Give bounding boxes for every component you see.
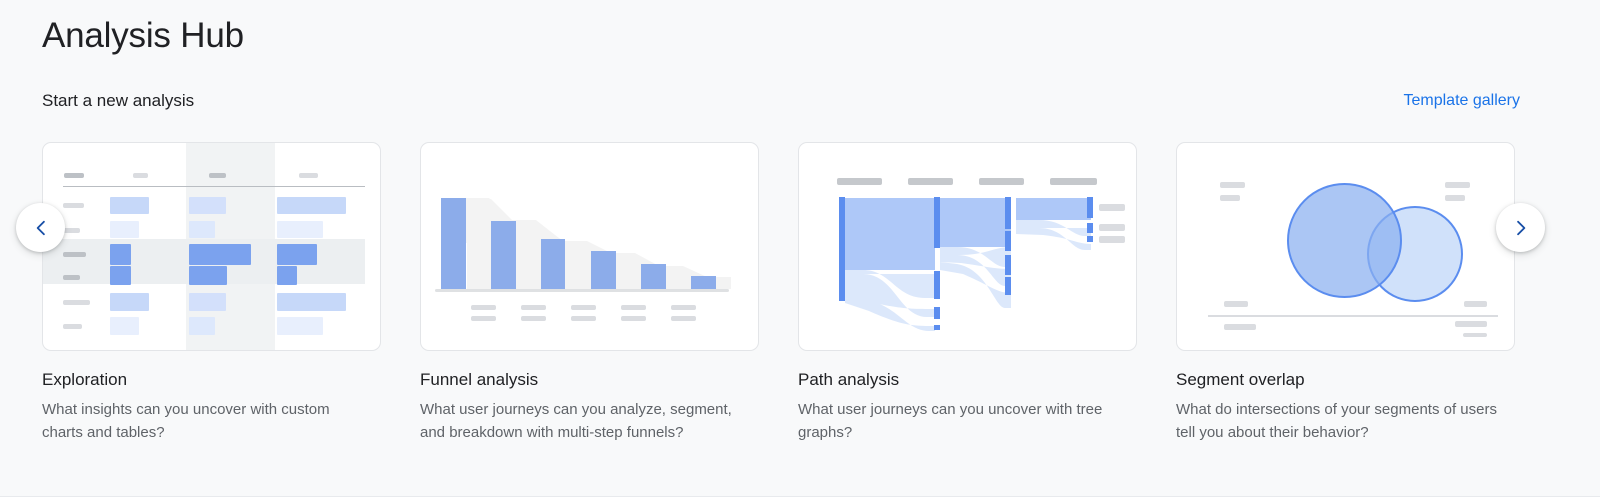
funnel-bar (491, 221, 516, 289)
sankey-node (934, 271, 940, 299)
sankey-node-label (1099, 224, 1125, 231)
table-row-label (63, 324, 82, 329)
venn-bottom-label (1464, 301, 1487, 307)
funnel-bar (641, 264, 666, 289)
table-row-label (63, 228, 80, 233)
table-header-label (209, 173, 226, 178)
table-cell-bar (189, 197, 226, 214)
sankey-node (1087, 236, 1093, 242)
table-header-label (133, 173, 148, 178)
table-cell-bar (277, 197, 346, 214)
table-cell-bar (277, 244, 317, 265)
venn-legend-label (1220, 182, 1245, 188)
venn-bottom-label (1455, 321, 1487, 327)
table-cell-bar (110, 293, 149, 311)
section-header-row: Start a new analysis Template gallery (42, 88, 1520, 114)
funnel-axis-label (671, 316, 696, 321)
exploration-table-thumbnail (42, 142, 381, 351)
analysis-card-exploration[interactable]: Exploration What insights can you uncove… (42, 142, 381, 444)
analysis-card-funnel[interactable]: Funnel analysis What user journeys can y… (420, 142, 759, 444)
funnel-axis-label (621, 305, 646, 310)
analysis-card-path[interactable]: Path analysis What user journeys can you… (798, 142, 1137, 444)
funnel-axis-label (571, 316, 596, 321)
sankey-node (1005, 255, 1011, 275)
venn-legend-label (1220, 195, 1240, 201)
venn-bottom-label (1224, 301, 1248, 307)
sankey-node (1087, 197, 1093, 218)
venn-bottom-label (1463, 333, 1487, 337)
card-title: Exploration (42, 368, 381, 392)
venn-legend-label (1445, 182, 1470, 188)
table-cell-bar (189, 293, 226, 311)
table-header-label (299, 173, 318, 178)
table-row-label (63, 300, 90, 305)
table-cell-bar (110, 197, 149, 214)
sankey-node (934, 325, 940, 330)
carousel-next-button[interactable] (1496, 203, 1545, 252)
card-title: Funnel analysis (420, 368, 759, 392)
chevron-right-icon (1511, 218, 1531, 238)
table-cell-bar (277, 293, 346, 311)
table-row-label (63, 203, 84, 208)
funnel-axis-label (521, 305, 546, 310)
card-description: What do intersections of your segments o… (1176, 398, 1506, 444)
table-cell-bar (110, 221, 139, 238)
sankey-node-label (1099, 236, 1125, 243)
card-description: What insights can you uncover with custo… (42, 398, 372, 444)
table-cell-bar (189, 244, 251, 265)
funnel-bar (441, 198, 466, 289)
table-cell-bar (277, 221, 323, 238)
sankey-flows (799, 143, 1137, 351)
funnel-chart-thumbnail (420, 142, 759, 351)
template-gallery-link[interactable]: Template gallery (1404, 88, 1521, 114)
sankey-node (934, 307, 940, 319)
sankey-node (839, 197, 845, 301)
funnel-bar (591, 251, 616, 289)
funnel-axis-label (621, 316, 646, 321)
sankey-node (1005, 277, 1011, 295)
venn-bottom-label (1224, 324, 1256, 330)
carousel-prev-button[interactable] (16, 203, 65, 252)
analysis-card-carousel: Exploration What insights can you uncove… (42, 142, 1562, 444)
table-cell-bar (110, 244, 131, 265)
card-title: Segment overlap (1176, 368, 1515, 392)
table-cell-bar (189, 266, 227, 285)
table-header-divider (63, 186, 365, 187)
section-subtitle: Start a new analysis (42, 88, 194, 114)
sankey-node-label (1099, 204, 1125, 211)
funnel-axis-label (471, 305, 496, 310)
table-cell-bar (277, 317, 323, 335)
funnel-axis-label (521, 316, 546, 321)
table-row-label (63, 275, 80, 280)
card-description: What user journeys can you uncover with … (798, 398, 1128, 444)
analysis-card-segment-overlap[interactable]: Segment overlap What do intersections of… (1176, 142, 1515, 444)
analysis-hub-page: Analysis Hub Start a new analysis Templa… (0, 0, 1600, 497)
sankey-node (1005, 231, 1011, 251)
sankey-node (1087, 223, 1093, 233)
venn-legend-label (1445, 195, 1465, 201)
page-title: Analysis Hub (42, 12, 244, 60)
funnel-axis-label (571, 305, 596, 310)
table-row-label (63, 252, 86, 257)
card-description: What user journeys can you analyze, segm… (420, 398, 750, 444)
card-title: Path analysis (798, 368, 1137, 392)
table-cell-bar (110, 266, 131, 285)
venn-circle-a (1287, 183, 1402, 298)
table-cell-bar (189, 317, 215, 335)
sankey-path-thumbnail (798, 142, 1137, 351)
venn-divider-line (1208, 315, 1498, 317)
funnel-baseline-axis (435, 289, 729, 292)
funnel-axis-label (671, 305, 696, 310)
table-cell-bar (277, 266, 297, 285)
table-header-label (64, 173, 84, 178)
funnel-bar (691, 276, 716, 289)
funnel-axis-label (471, 316, 496, 321)
table-cell-bar (189, 221, 215, 238)
sankey-node (934, 197, 940, 248)
table-cell-bar (110, 317, 139, 335)
venn-overlap-thumbnail (1176, 142, 1515, 351)
chevron-left-icon (31, 218, 51, 238)
funnel-bar (541, 239, 565, 289)
sankey-node (1005, 197, 1011, 229)
